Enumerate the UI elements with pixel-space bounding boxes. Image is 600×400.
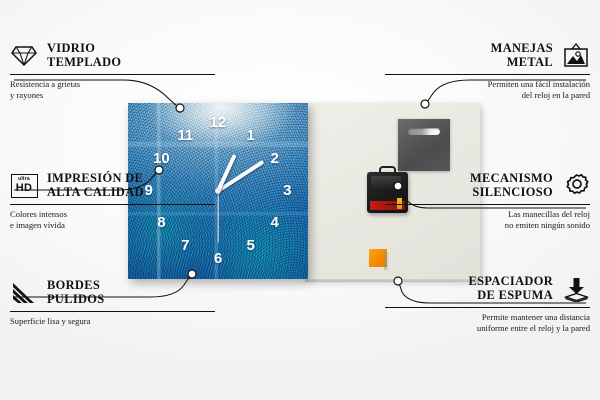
feature-header: MANEJAS METAL [385,42,590,70]
feature-mecanismo-silencioso[interactable]: MECANISMO SILENCIOSO Las manecillas del … [385,172,590,232]
feature-header: MECANISMO SILENCIOSO [385,172,590,200]
feature-header: VIDRIO TEMPLADO [10,42,215,70]
feature-divider [385,204,590,205]
feature-divider [10,311,215,312]
feature-title: IMPRESIÓN DE ALTA CALIDAD [47,172,144,200]
feature-divider [10,204,215,205]
feature-header: BORDES PULIDOS [10,279,215,307]
arrow-down-pad-icon [562,276,590,302]
feature-bordes-pulidos[interactable]: BORDES PULIDOS Superficie lisa y segura [10,279,215,327]
feature-description: Superficie lisa y segura [10,316,215,328]
node-vidrio-templado [176,104,184,112]
feature-header: ultra HD IMPRESIÓN DE ALTA CALIDAD [10,172,215,200]
feature-divider [10,74,215,75]
infographic-canvas: 123456789101112 [0,0,600,400]
feature-title: ESPACIADOR DE ESPUMA [468,275,553,303]
feature-description: Resistencia a grietas y rayones [10,79,215,102]
ultra-hd-icon: ultra HD [10,173,38,199]
feature-title: BORDES PULIDOS [47,279,105,307]
node-bordes-pulidos [188,270,196,278]
feature-impresion-alta-calidad[interactable]: ultra HD IMPRESIÓN DE ALTA CALIDAD Color… [10,172,215,232]
gear-icon [562,173,590,199]
feature-divider [385,307,590,308]
wall-hanging-frame-icon [562,43,590,69]
feature-title: MECANISMO SILENCIOSO [470,172,553,200]
feature-description: Permiten una fácil instalación del reloj… [385,79,590,102]
polished-edges-icon [10,280,38,306]
feature-vidrio-templado[interactable]: VIDRIO TEMPLADO Resistencia a grietas y … [10,42,215,102]
feature-description: Permite mantener una distancia uniforme … [385,312,590,335]
diamond-icon [10,43,38,69]
feature-title: VIDRIO TEMPLADO [47,42,121,70]
feature-manejas-metal[interactable]: MANEJAS METAL Permiten una fácil instala… [385,42,590,102]
feature-title: MANEJAS METAL [491,42,553,70]
ultra-hd-icon-large-text: HD [16,183,33,194]
feature-divider [385,74,590,75]
feature-description: Las manecillas del reloj no emiten ningú… [385,209,590,232]
feature-header: ESPACIADOR DE ESPUMA [385,275,590,303]
feature-description: Colores intensos e imagen vívida [10,209,215,232]
feature-espaciador-de-espuma[interactable]: ESPACIADOR DE ESPUMA Permite mantener un… [385,275,590,335]
